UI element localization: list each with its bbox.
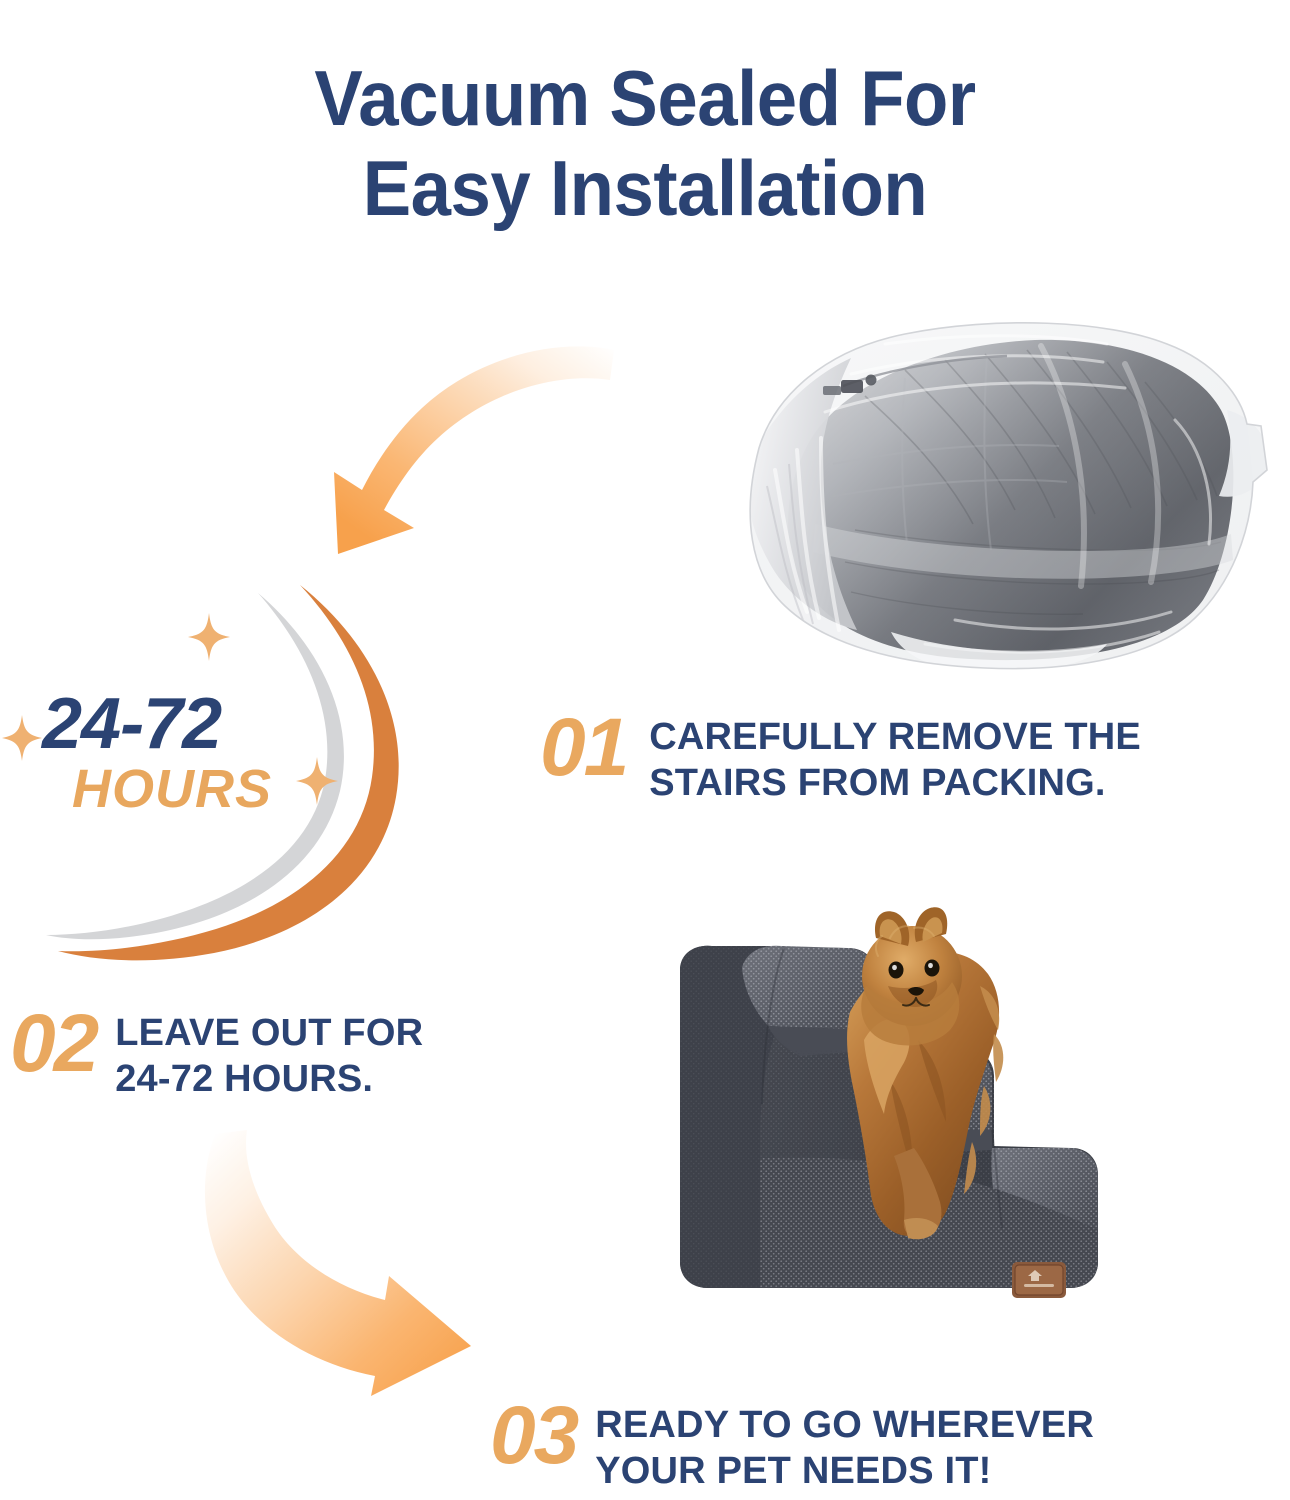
- infographic-canvas: Vacuum Sealed For Easy Installation: [0, 0, 1290, 1500]
- step-number-03: 03: [490, 1396, 577, 1476]
- step-text-03-line-2: YOUR PET NEEDS IT!: [595, 1448, 1094, 1494]
- badge-duration-unit: HOURS: [72, 762, 272, 816]
- sparkle-icon-right: [296, 757, 338, 805]
- step-text-02-line-2: 24-72 HOURS.: [115, 1056, 423, 1102]
- page-title-line-2: Easy Installation: [45, 144, 1245, 234]
- step-text-01-line-1: CAREFULLY REMOVE THE: [649, 714, 1141, 760]
- step-item-01: 01 CAREFULLY REMOVE THE STAIRS FROM PACK…: [540, 708, 1141, 807]
- step-number-01: 01: [540, 708, 627, 788]
- step-text-02: LEAVE OUT FOR 24-72 HOURS.: [115, 1004, 423, 1103]
- sparkle-icon-top: [188, 613, 230, 661]
- page-title-line-1: Vacuum Sealed For: [314, 54, 975, 142]
- step-number-02: 02: [10, 1004, 97, 1084]
- badge-duration-number: 24-72: [42, 688, 221, 760]
- step-item-03: 03 READY TO GO WHEREVER YOUR PET NEEDS I…: [490, 1396, 1094, 1495]
- brand-logo-tag: [1012, 1262, 1066, 1298]
- step-text-01: CAREFULLY REMOVE THE STAIRS FROM PACKING…: [649, 708, 1141, 807]
- curved-arrow-down-left: [318, 322, 618, 577]
- curved-arrow-down-right: [185, 1128, 525, 1403]
- page-title: Vacuum Sealed For Easy Installation: [45, 54, 1245, 233]
- sparkle-icon-left: [2, 715, 42, 761]
- step-text-01-line-2: STAIRS FROM PACKING.: [649, 760, 1141, 806]
- step-text-03-line-1: READY TO GO WHEREVER: [595, 1402, 1094, 1448]
- vacuum-sealed-package-photo: [655, 300, 1285, 695]
- pet-stairs-with-dog-photo: [650, 890, 1110, 1355]
- step-text-02-line-1: LEAVE OUT FOR: [115, 1010, 423, 1056]
- step-text-03: READY TO GO WHEREVER YOUR PET NEEDS IT!: [595, 1396, 1094, 1495]
- step-item-02: 02 LEAVE OUT FOR 24-72 HOURS.: [10, 1004, 423, 1103]
